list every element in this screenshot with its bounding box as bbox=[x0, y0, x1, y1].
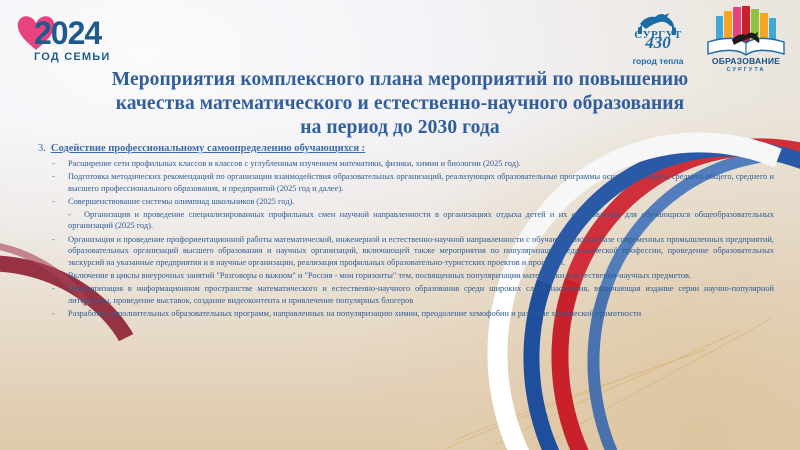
list-item: Популяризация в информационном пространс… bbox=[34, 283, 774, 306]
svg-text:2024: 2024 bbox=[34, 15, 102, 51]
education-logo-wordmark: ОБРАЗОВАНИЕ bbox=[712, 56, 780, 66]
list-item: Разработка дополнительных образовательны… bbox=[34, 308, 774, 320]
measures-list: Расширение сети профильных классов и кла… bbox=[34, 158, 774, 319]
list-item: Совершенствование системы олимпиад школь… bbox=[34, 196, 774, 208]
surgut-logo-caption: город тепла bbox=[633, 56, 684, 66]
slide-title-line-2: качества математического и естественно-н… bbox=[55, 92, 745, 116]
section-number: 3. bbox=[38, 143, 46, 154]
partner-logos-group: 430 СУРГУТ город тепла ОБРАЗОВАНИЕ СУРГУ… bbox=[622, 4, 790, 72]
list-item: Подготовка методических рекомендаций по … bbox=[34, 171, 774, 194]
section-heading: 3. Содействие профессиональному самоопре… bbox=[38, 143, 774, 154]
list-item: Организация и проведение специализирован… bbox=[34, 209, 774, 232]
section-heading-text: Содействие профессиональному самоопредел… bbox=[51, 143, 365, 154]
list-item: Включение в циклы внеурочных занятий "Ра… bbox=[34, 270, 774, 282]
list-item: Организация и проведение профориентацион… bbox=[34, 234, 774, 269]
year-logo-caption: ГОД СЕМЬИ bbox=[34, 51, 110, 63]
slide-body: 3. Содействие профессиональному самоопре… bbox=[34, 143, 774, 321]
slide-canvas: 2024 ГОД СЕМЬИ 430 СУРГУТ город тепла bbox=[0, 0, 800, 450]
slide-title-line-1: Мероприятия комплексного плана мероприят… bbox=[55, 68, 745, 92]
svg-text:СУРГУТ: СУРГУТ bbox=[634, 29, 682, 41]
education-surgut-logo: ОБРАЗОВАНИЕ СУРГУТА bbox=[702, 4, 790, 72]
year-of-family-2024-logo: 2024 ГОД СЕМЬИ bbox=[14, 8, 134, 66]
surgut-city-logo: 430 СУРГУТ город тепла bbox=[622, 4, 694, 70]
slide-title: Мероприятия комплексного плана мероприят… bbox=[55, 68, 745, 140]
list-item: Расширение сети профильных классов и кла… bbox=[34, 158, 774, 170]
slide-title-line-3: на период до 2030 года bbox=[55, 116, 745, 140]
